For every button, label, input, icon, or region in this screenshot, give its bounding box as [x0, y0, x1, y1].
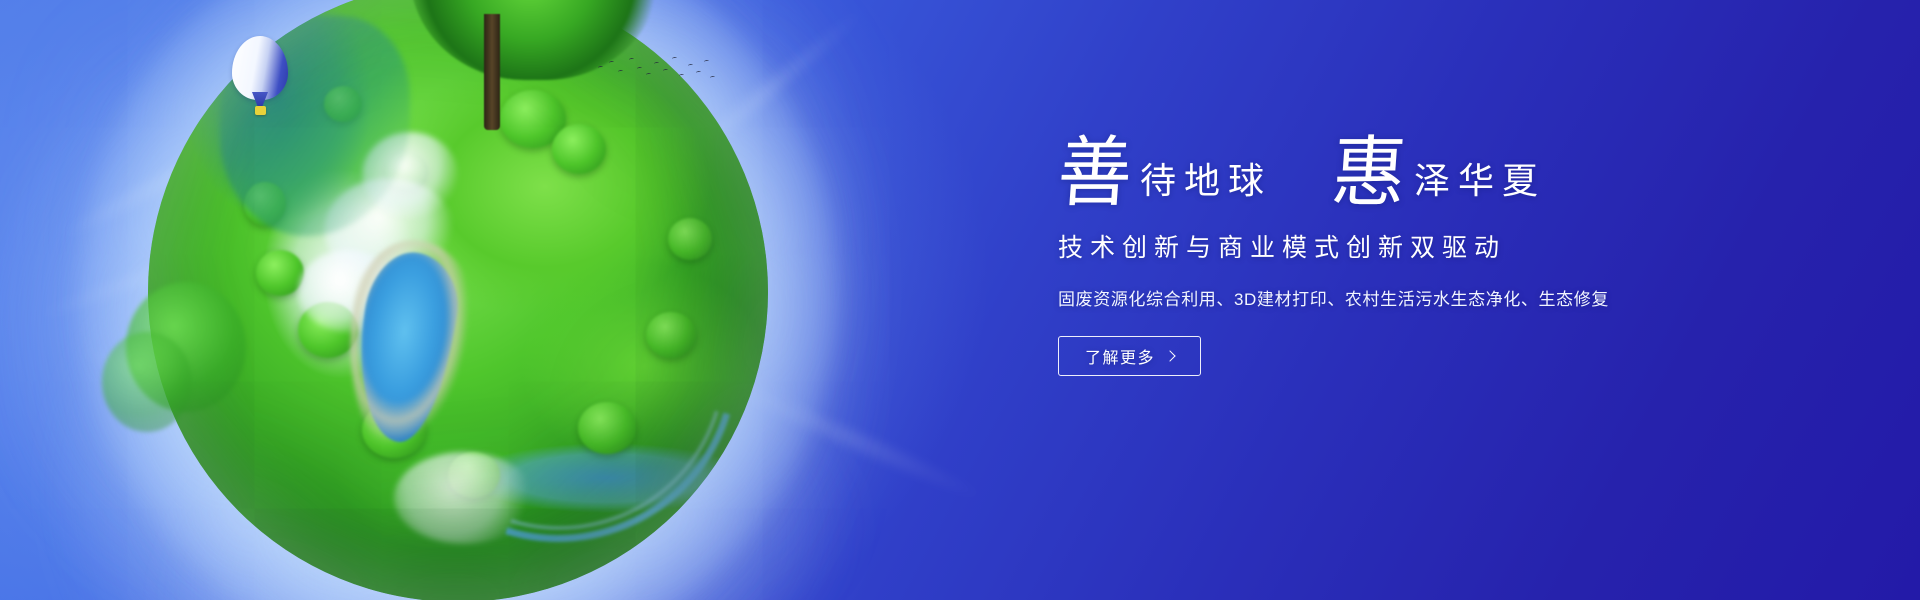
hot-air-balloon-icon [232, 36, 288, 122]
headline-char-1: 善 [1055, 135, 1134, 212]
balloon-basket [255, 106, 266, 115]
headline-part-1: 待地球 [1140, 164, 1272, 200]
chevron-right-icon [1164, 350, 1175, 361]
headline-part-2: 泽华夏 [1414, 164, 1546, 200]
hero-banner: 善 待地球 惠 泽华夏 技术创新与商业模式创新双驱动 固废资源化综合利用、3D建… [0, 0, 1920, 600]
hero-copy: 善 待地球 惠 泽华夏 技术创新与商业模式创新双驱动 固废资源化综合利用、3D建… [1058, 132, 1758, 376]
tree-trunk [484, 14, 500, 130]
learn-more-label: 了解更多 [1085, 344, 1155, 368]
bird-flock-icon [596, 52, 716, 92]
learn-more-button[interactable]: 了解更多 [1058, 336, 1201, 376]
hero-subtitle: 技术创新与商业模式创新双驱动 [1058, 228, 1758, 264]
hero-description: 固废资源化综合利用、3D建材打印、农村生活污水生态净化、生态修复 [1058, 285, 1758, 310]
headline-char-2: 惠 [1329, 135, 1408, 212]
page-title: 善 待地球 惠 泽华夏 [1058, 132, 1758, 206]
balloon-envelope [232, 36, 288, 100]
tree-icon [102, 332, 192, 432]
